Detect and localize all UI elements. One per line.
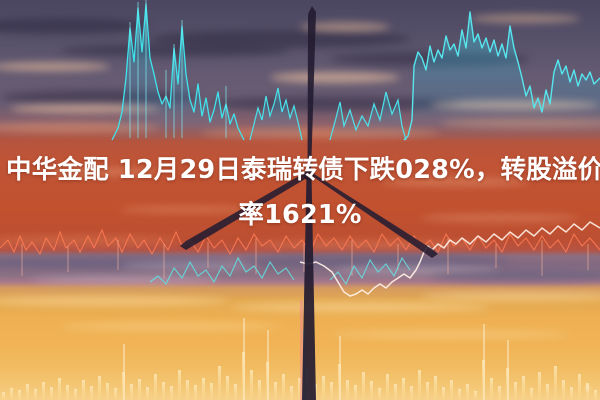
- watermark-mark: ◈: [584, 381, 592, 394]
- headline-line-1: 中华金配 12月29日泰瑞转债下跌028%，转股溢价: [6, 148, 594, 193]
- headline-text: 中华金配 12月29日泰瑞转债下跌028%，转股溢价 率1621%: [0, 148, 600, 238]
- headline-line-2: 率1621%: [6, 193, 594, 238]
- news-banner-image: 中华金配 12月29日泰瑞转债下跌028%，转股溢价 率1621% ◈: [0, 0, 600, 400]
